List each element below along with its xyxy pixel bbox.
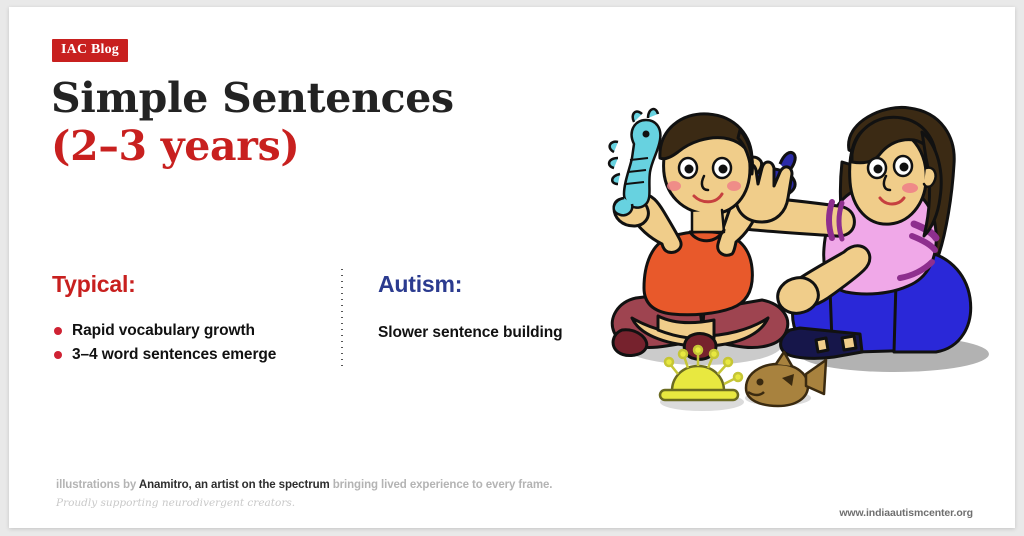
column-typical: Typical: Rapid vocabulary growth 3–4 wor… [52,270,322,367]
bullet-dot-icon [54,351,62,359]
illustration-credit: illustrations by Anamitro, an artist on … [56,479,552,491]
bullet-dot-icon [54,327,62,335]
list-item-label: Rapid vocabulary growth [72,322,255,339]
content-card: IAC Blog Simple Sentences (2–3 years) Ty… [9,7,1015,528]
iac-blog-badge: IAC Blog [52,39,128,62]
typical-bullet-list: Rapid vocabulary growth 3–4 word sentenc… [52,319,322,367]
credit-prefix: illustrations by [56,479,139,491]
credit-suffix: bringing lived experience to every frame… [330,479,553,491]
footer-tagline: Proudly supporting neurodivergent creato… [56,497,295,509]
illustration-artwork [594,102,1015,432]
footer-website-url: www.indiaautismcenter.org [839,507,973,519]
title-line-primary: Simple Sentences [51,74,611,122]
page-background: IAC Blog Simple Sentences (2–3 years) Ty… [0,0,1024,536]
column-divider [341,269,343,370]
list-item: 3–4 word sentences emerge [52,343,322,367]
page-title: Simple Sentences (2–3 years) [51,74,611,170]
typical-heading: Typical: [52,270,322,298]
list-item: Rapid vocabulary growth [52,319,322,343]
title-line-age-range: (2–3 years) [51,122,611,170]
credit-artist-name: Anamitro, an artist on the spectrum [139,479,330,491]
list-item-label: 3–4 word sentences emerge [72,346,276,363]
